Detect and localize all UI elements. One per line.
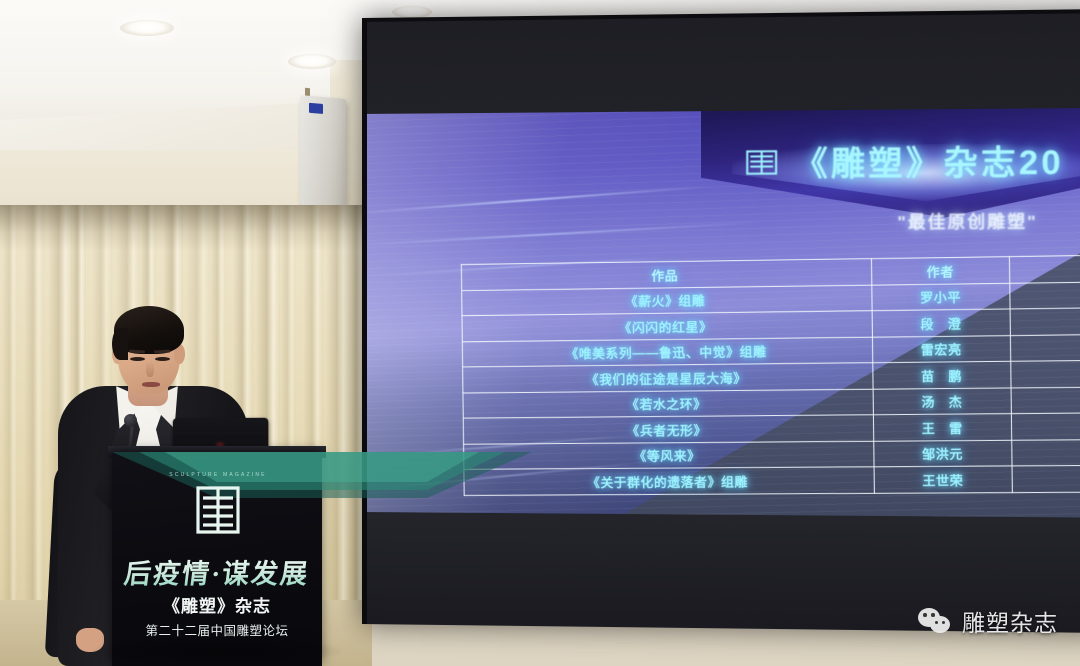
- awards-work-cell: 《我们的征途是星辰大海》: [463, 363, 873, 393]
- curtain-top-shadow: [0, 205, 372, 251]
- awards-author-cell: 雷宏亮: [872, 335, 1011, 363]
- sculpture-magazine-book-icon: [744, 146, 779, 177]
- presenter-eye-left: [130, 357, 145, 361]
- awards-author-cell: 苗 鹏: [872, 361, 1011, 388]
- podium-magazine-name: 《雕塑》杂志: [112, 592, 322, 617]
- awards-extra-cell: [1011, 359, 1080, 387]
- awards-extra-cell: [1010, 333, 1080, 361]
- wechat-icon: [918, 608, 952, 634]
- awards-author-cell: 罗小平: [871, 283, 1010, 311]
- awards-extra-cell: [1010, 280, 1080, 309]
- awards-extra-cell: [1012, 465, 1080, 492]
- slide-title-text: 《雕塑》杂志20: [794, 135, 1064, 186]
- awards-table-row: 《关于群化的遗落者》组雕王世荣: [464, 465, 1080, 495]
- ceiling-downlight: [392, 6, 432, 18]
- awards-extra-cell: [1010, 307, 1080, 335]
- watermark: 雕塑杂志: [918, 604, 1058, 638]
- speaker-badge: [309, 103, 323, 114]
- awards-extra-cell: [1011, 386, 1080, 414]
- screen-top-letterbox: [367, 13, 1080, 116]
- curtain-fold: [24, 205, 44, 666]
- awards-table: 作品作者《薪火》组雕罗小平《闪闪的红星》段 澄《唯美系列——鲁迅、中觉》组雕雷宏…: [461, 254, 1080, 496]
- sculpture-magazine-book-icon: [194, 482, 242, 538]
- podium-logo-subtext: SCULPTURE MAGAZINE: [162, 472, 274, 478]
- presenter-eye-right: [155, 357, 170, 361]
- awards-author-cell: 王 雷: [873, 414, 1012, 441]
- presenter-hair-side: [112, 328, 128, 360]
- presentation-scene: 《雕塑》杂志20 "最佳原创雕塑" 作品作者《薪火》组雕罗小平《闪闪的红星》段 …: [0, 0, 1080, 666]
- presenter-mouth: [142, 382, 160, 387]
- watermark-label: 雕塑杂志: [962, 604, 1058, 638]
- awards-author-cell: 汤 杰: [873, 387, 1012, 414]
- awards-author-cell: 王世荣: [874, 466, 1013, 493]
- awards-table-header-cell: [1009, 254, 1080, 283]
- podium-front-panel: SCULPTURE MAGAZINE 后疫情·谋发展 《雕塑》杂志 第二十二届中…: [112, 452, 322, 666]
- awards-extra-cell: [1011, 412, 1080, 440]
- ceiling-downlight: [288, 54, 336, 69]
- awards-table-header-cell: 作者: [871, 257, 1010, 285]
- awards-extra-cell: [1012, 438, 1080, 465]
- awards-work-cell: 《若水之环》: [463, 389, 873, 418]
- led-display-screen: 《雕塑》杂志20 "最佳原创雕塑" 作品作者《薪火》组雕罗小平《闪闪的红星》段 …: [362, 9, 1080, 633]
- ceiling-downlight: [120, 20, 174, 36]
- podium-shadow: [92, 636, 342, 666]
- presenter-nose: [146, 361, 154, 377]
- awards-author-cell: 段 澄: [872, 309, 1011, 337]
- slide-title-row: 《雕塑》杂志20: [744, 135, 1064, 186]
- awards-work-cell: 《兵者无形》: [463, 415, 873, 444]
- awards-table-row: 《等风来》邹洪元: [464, 438, 1080, 469]
- microphone-head: [124, 414, 137, 427]
- curtain-fold: [326, 205, 350, 666]
- curtain-fold: [2, 205, 18, 666]
- wall-speaker: [300, 95, 346, 209]
- slide-subtitle: "最佳原创雕塑": [897, 207, 1037, 233]
- awards-author-cell: 邹洪元: [873, 440, 1012, 467]
- podium-main-title: 后疫情·谋发展: [110, 552, 325, 591]
